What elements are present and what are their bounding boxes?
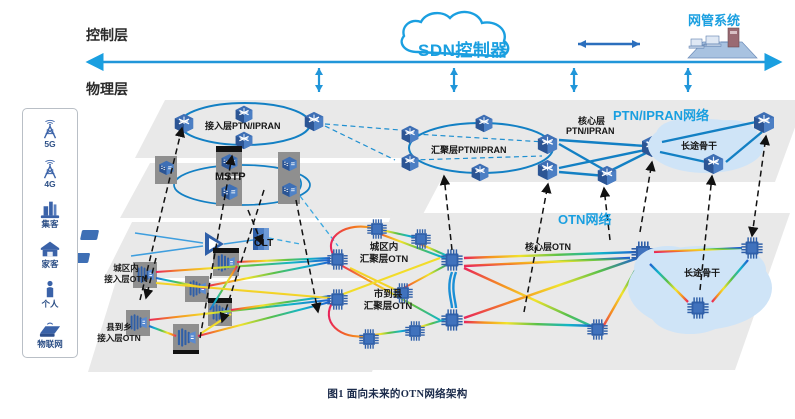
legend-label-4g: 4G — [44, 180, 55, 189]
legend-label-5g: 5G — [44, 140, 55, 149]
service-type-legend: 5G 4G 集客 家客 — [22, 108, 78, 358]
legend-label-personal: 个人 — [41, 300, 58, 309]
nms-icon[interactable] — [688, 28, 757, 58]
network-architecture-canvas — [0, 0, 795, 419]
legend-item-personal[interactable]: 个人 — [23, 278, 77, 309]
cell-tower-5g-icon — [35, 118, 65, 140]
control-physical-link-arrows — [315, 68, 692, 92]
cell-tower-4g-icon — [35, 158, 65, 180]
enterprise-building-icon — [35, 198, 65, 220]
diagram-root: 5G 4G 集客 家客 — [0, 0, 795, 419]
legend-item-5g[interactable]: 5G — [23, 118, 77, 149]
person-icon — [35, 278, 65, 300]
legend-item-home[interactable]: 家客 — [23, 238, 77, 269]
home-house-icon — [35, 238, 65, 260]
sdn-nms-link-arrow — [578, 40, 640, 48]
legend-item-4g[interactable]: 4G — [23, 158, 77, 189]
legend-label-iot: 物联网 — [37, 340, 63, 349]
iot-gateway-icon — [35, 318, 65, 340]
sdn-controller-cloud[interactable] — [402, 12, 509, 56]
legend-item-enterprise[interactable]: 集客 — [23, 198, 77, 229]
legend-label-enterprise: 集客 — [41, 220, 58, 229]
legend-item-iot[interactable]: 物联网 — [23, 318, 77, 349]
figure-caption: 图1 面向未来的OTN网络架构 — [0, 386, 795, 401]
legend-label-home: 家客 — [41, 260, 58, 269]
